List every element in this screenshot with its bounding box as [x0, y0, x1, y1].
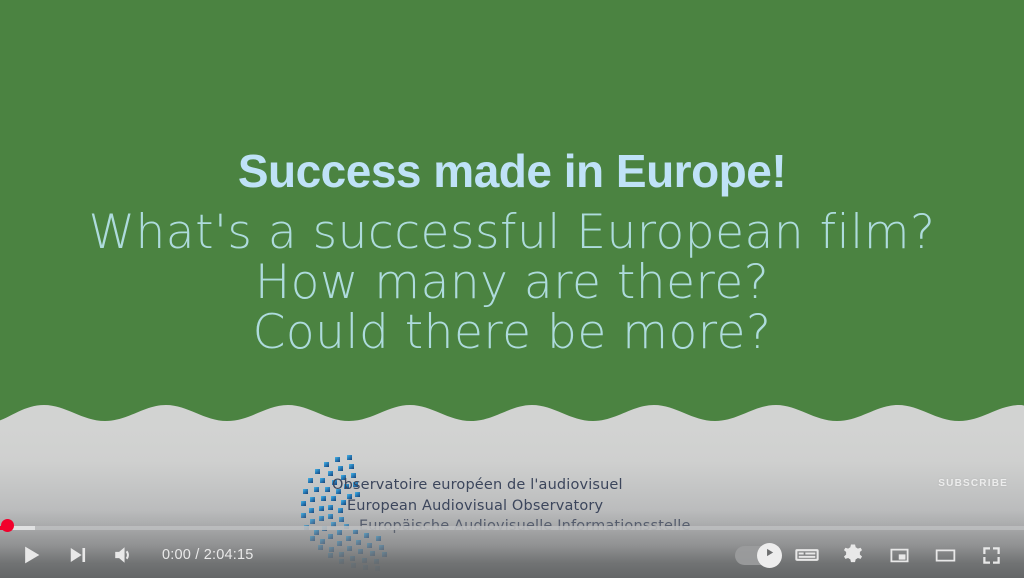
play-button[interactable] [8, 533, 54, 577]
subscribe-watermark[interactable]: SUBSCRIBE [938, 478, 1008, 489]
autoplay-toggle[interactable] [730, 533, 784, 577]
autoplay-knob [757, 543, 782, 568]
progress-track[interactable] [0, 526, 1024, 530]
logo-line-french: Observatoire européen de l'audiovisuel [332, 475, 732, 496]
settings-button[interactable] [830, 533, 876, 577]
fullscreen-icon [978, 542, 1005, 569]
play-icon [16, 540, 46, 570]
slide-question-1: What's a successful European film? [0, 208, 1024, 258]
gear-icon [839, 541, 867, 569]
next-button[interactable] [54, 533, 100, 577]
video-frame[interactable]: Success made in Europe! What's a success… [0, 0, 1024, 578]
volume-icon [109, 541, 137, 569]
autoplay-track [735, 546, 779, 565]
volume-button[interactable] [100, 533, 146, 577]
miniplayer-button[interactable] [876, 533, 922, 577]
next-track-icon [63, 541, 91, 569]
play-icon [763, 546, 776, 564]
closed-captions-icon [792, 540, 822, 570]
slide-title: Success made in Europe! [0, 148, 1024, 194]
fullscreen-button[interactable] [968, 533, 1014, 577]
time-display: 0:00 / 2:04:15 [146, 547, 260, 563]
slide-text-block: Success made in Europe! What's a success… [0, 148, 1024, 357]
video-player[interactable]: Success made in Europe! What's a success… [0, 0, 1024, 578]
theater-mode-icon [932, 542, 959, 569]
slide-question-2: How many are there? [0, 258, 1024, 308]
scalloped-wave-edge [0, 405, 1024, 431]
subtitles-button[interactable] [784, 533, 830, 577]
control-buttons-row: 0:00 / 2:04:15 [0, 532, 1024, 578]
miniplayer-icon [886, 542, 913, 569]
right-controls [730, 533, 1024, 577]
progress-scrubber-handle[interactable] [1, 519, 14, 532]
left-controls: 0:00 / 2:04:15 [0, 533, 260, 577]
slide-question-3: Could there be more? [0, 308, 1024, 358]
player-control-bar[interactable]: 0:00 / 2:04:15 [0, 510, 1024, 578]
theater-button[interactable] [922, 533, 968, 577]
